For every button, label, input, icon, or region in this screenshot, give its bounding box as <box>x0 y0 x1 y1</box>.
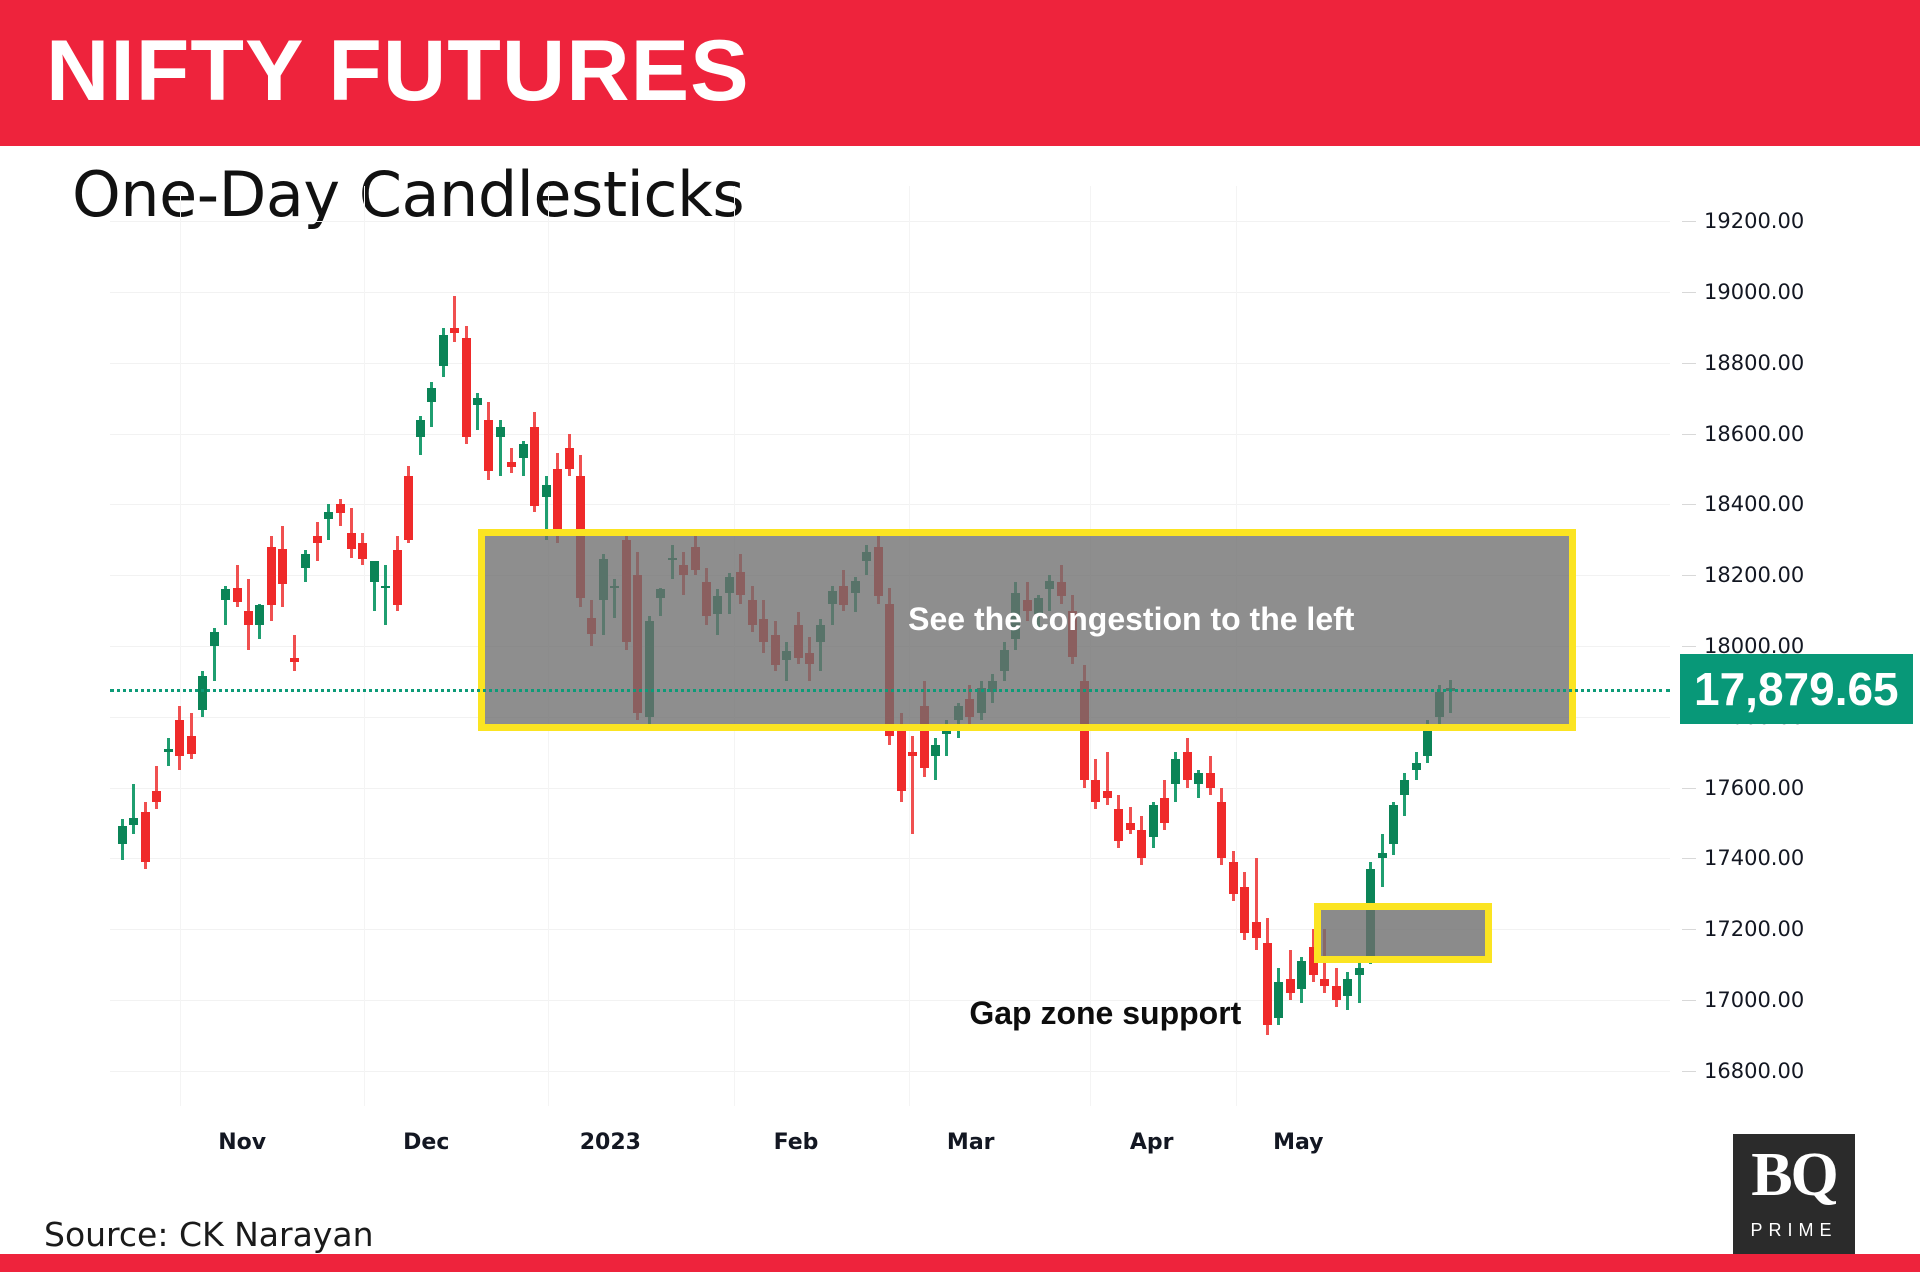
bq-prime-logo: BQ PRIME <box>1733 1134 1855 1256</box>
candle-wick <box>167 738 170 766</box>
candle-body <box>278 549 287 584</box>
y-tick-label: 18600.00 <box>1704 422 1804 446</box>
candle-body <box>519 444 528 458</box>
congestion-zone-label: See the congestion to the left <box>908 601 1354 638</box>
y-tick-mark <box>1682 1071 1696 1072</box>
candle-body <box>553 469 562 536</box>
y-tick-label: 16800.00 <box>1704 1059 1804 1083</box>
last-price-badge: 17,879.65 <box>1680 654 1913 724</box>
candle-body <box>370 561 379 582</box>
x-tick-label: 2023 <box>580 1130 641 1155</box>
x-tick-label: Mar <box>947 1130 995 1155</box>
candle-wick <box>293 635 296 670</box>
candle-body <box>1217 802 1226 859</box>
last-price-line <box>110 689 1670 692</box>
candle-body <box>897 731 906 791</box>
gridline <box>110 1000 1670 1001</box>
y-tick-label: 19000.00 <box>1704 280 1804 304</box>
candle-body <box>1183 752 1192 780</box>
candle-body <box>1400 780 1409 794</box>
candlestick-chart: See the congestion to the left Gap zone … <box>110 186 1670 1106</box>
candle-body <box>473 398 482 405</box>
x-tick-label: Dec <box>403 1130 449 1155</box>
candle-body <box>1355 968 1364 975</box>
candle-body <box>542 485 551 497</box>
candle-body <box>496 427 505 438</box>
x-tick-label: May <box>1273 1130 1323 1155</box>
candle-body <box>1160 798 1169 823</box>
gridline <box>110 292 1670 293</box>
candle-body <box>336 504 345 513</box>
y-tick-label: 19200.00 <box>1704 209 1804 233</box>
x-tick-label: Nov <box>218 1130 266 1155</box>
candle-body <box>1263 943 1272 1024</box>
candle-body <box>164 749 173 753</box>
candle-body <box>1274 982 1283 1017</box>
gridline <box>180 186 181 1106</box>
gridline <box>110 788 1670 789</box>
candle-body <box>324 512 333 519</box>
candle-body <box>175 720 184 755</box>
candle-body <box>381 586 390 589</box>
y-tick-mark <box>1682 929 1696 930</box>
gridline <box>110 858 1670 859</box>
gridline <box>110 1071 1670 1072</box>
candle-body <box>255 605 264 624</box>
candle-body <box>244 611 253 625</box>
y-tick-label: 18800.00 <box>1704 351 1804 375</box>
footer-banner <box>0 1254 1920 1272</box>
candle-body <box>1126 823 1135 830</box>
candle-wick <box>1381 834 1384 887</box>
candle-body <box>313 536 322 543</box>
y-tick-mark <box>1682 1000 1696 1001</box>
candle-body <box>416 420 425 438</box>
candle-wick <box>132 784 135 834</box>
candle-body <box>450 328 459 333</box>
candle-wick <box>510 448 513 473</box>
candle-body <box>1378 853 1387 858</box>
y-tick-label: 18200.00 <box>1704 563 1804 587</box>
candle-body <box>347 533 356 549</box>
candle-body <box>1320 979 1329 986</box>
candle-body <box>1091 780 1100 801</box>
candle-body <box>565 448 574 469</box>
gridline <box>110 363 1670 364</box>
gap-zone-support-label: Gap zone support <box>969 995 1241 1032</box>
y-tick-label: 17000.00 <box>1704 988 1804 1012</box>
candle-body <box>152 791 161 802</box>
y-tick-mark <box>1682 504 1696 505</box>
logo-wordmark: PRIME <box>1733 1220 1855 1241</box>
candle-body <box>1389 805 1398 844</box>
candle-body <box>1229 862 1238 894</box>
candle-body <box>1240 887 1249 933</box>
candle-body <box>1412 763 1421 770</box>
candle-body <box>1343 979 1352 997</box>
candle-body <box>210 632 219 646</box>
candle-wick <box>155 766 158 808</box>
source-credit: Source: CK Narayan <box>44 1215 373 1254</box>
candle-body <box>290 658 299 662</box>
candle-body <box>187 736 196 754</box>
candle-body <box>358 543 367 559</box>
candle-body <box>1332 986 1341 1000</box>
candle-body <box>427 388 436 402</box>
candle-body <box>1286 979 1295 993</box>
candle-body <box>404 476 413 540</box>
candle-wick <box>1358 957 1361 1003</box>
y-tick-label: 17600.00 <box>1704 776 1804 800</box>
candle-wick <box>384 565 387 625</box>
gap-zone-support-box <box>1314 903 1492 963</box>
y-tick-mark <box>1682 292 1696 293</box>
candle-body <box>1252 922 1261 938</box>
candle-body <box>233 588 242 602</box>
y-tick-mark <box>1682 363 1696 364</box>
candle-body <box>1206 773 1215 787</box>
logo-mark: BQ <box>1733 1140 1855 1211</box>
y-tick-mark <box>1682 221 1696 222</box>
x-tick-label: Apr <box>1130 1130 1174 1155</box>
candle-body <box>439 335 448 367</box>
candle-body <box>484 420 493 471</box>
candle-body <box>267 547 276 605</box>
candle-body <box>129 818 138 825</box>
page-title: NIFTY FUTURES <box>46 16 750 126</box>
y-tick-mark <box>1682 575 1696 576</box>
candle-body <box>141 812 150 862</box>
gridline <box>110 434 1670 435</box>
y-tick-label: 17400.00 <box>1704 846 1804 870</box>
candle-body <box>1297 961 1306 989</box>
candle-body <box>931 745 940 756</box>
candle-wick <box>911 736 914 833</box>
candle-body <box>1137 830 1146 858</box>
candle-body <box>1194 773 1203 784</box>
candle-body <box>198 676 207 710</box>
gridline <box>110 221 1670 222</box>
candle-body <box>530 427 539 507</box>
candle-body <box>507 462 516 467</box>
candle-body <box>221 589 230 600</box>
y-tick-label: 18400.00 <box>1704 492 1804 516</box>
candle-wick <box>453 296 456 342</box>
candle-body <box>908 752 917 756</box>
candle-body <box>393 550 402 605</box>
candle-body <box>1171 759 1180 784</box>
candle-body <box>1114 809 1123 841</box>
x-tick-label: Feb <box>774 1130 819 1155</box>
gridline <box>364 186 365 1106</box>
y-tick-label: 17200.00 <box>1704 917 1804 941</box>
candle-body <box>118 826 127 844</box>
y-tick-mark <box>1682 788 1696 789</box>
candle-body <box>462 338 471 437</box>
y-tick-mark <box>1682 646 1696 647</box>
candle-body <box>1103 791 1112 798</box>
candle-body <box>301 554 310 568</box>
candle-body <box>1149 805 1158 837</box>
y-tick-mark <box>1682 434 1696 435</box>
y-tick-mark <box>1682 858 1696 859</box>
candle-wick <box>327 504 330 539</box>
